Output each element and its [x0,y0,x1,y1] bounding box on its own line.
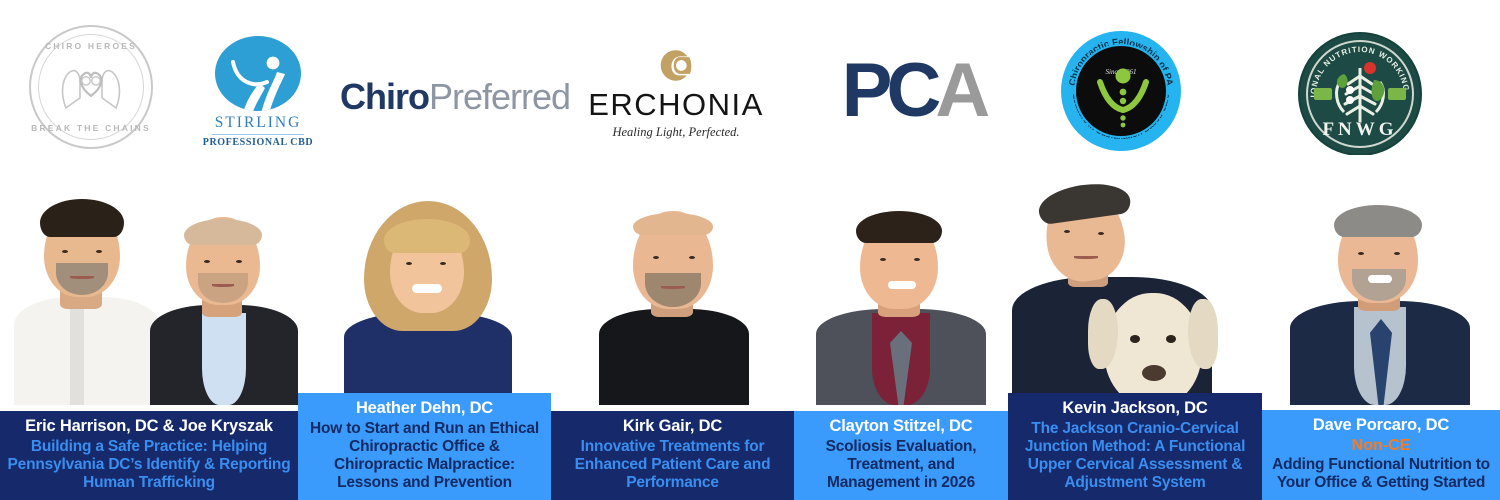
hands-heart-icon [56,58,126,114]
speaker-photo-0 [0,155,298,405]
speaker-name-0: Eric Harrison, DC & Joe Kryszak [6,417,292,436]
fnwg-badge-icon: FUNCTIONAL NUTRITION WORKING GROUP FNWG [1298,32,1422,156]
pca-wordmark: PCA [842,47,984,134]
chiro-heroes-seal-icon: CHIRO HEROES BREAK THE CHAINS [29,25,153,149]
dog-illustration [1088,277,1218,405]
speaker-photo-4 [1008,155,1262,405]
portrait-kevin-jackson [1012,155,1252,405]
sponsor-logo-chiro-heroes[interactable]: CHIRO HEROES BREAK THE CHAINS [26,22,156,152]
speaker-name-4: Kevin Jackson, DC [1014,399,1256,418]
chiro-preferred-word-a: Chiro [340,76,429,117]
pca-word-a: PC [842,48,936,133]
speaker-non-ce-badge-5: Non-CE [1268,437,1494,455]
stirling-circle-icon [215,36,301,111]
speaker-caption-2: Kirk Gair, DC Innovative Treatments for … [551,411,794,500]
speaker-panel-2[interactable]: Kirk Gair, DC Innovative Treatments for … [551,155,794,500]
stirling-divider [212,134,304,135]
chiro-heroes-bottom-text: BREAK THE CHAINS [31,123,151,133]
speaker-caption-3: Clayton Stitzel, DC Scoliosis Evaluation… [794,411,1008,500]
speaker-title-4: The Jackson Cranio-Cervical Junction Met… [1014,420,1256,493]
stirling-subtitle: PROFESSIONAL CBD [203,137,313,148]
speaker-name-5: Dave Porcaro, DC [1268,416,1494,435]
stirling-name: STIRLING [215,114,302,132]
cfpa-badge-icon: Chiropractic Fellowship of PA Leaders in… [1061,31,1181,151]
chiro-heroes-top-text: CHIRO HEROES [31,41,151,51]
speaker-panels: Eric Harrison, DC & Joe Kryszak Building… [0,155,1500,500]
portrait-joe-kryszak [150,155,298,405]
speaker-title-3: Scoliosis Evaluation, Treatment, and Man… [800,438,1002,492]
speaker-photo-1 [298,155,551,405]
chiro-preferred-word-b: Preferred [429,76,570,117]
portrait-heather-dehn [338,155,518,405]
pca-word-b: A [935,48,984,133]
speaker-panel-1[interactable]: Heather Dehn, DC How to Start and Run an… [298,155,551,500]
speaker-panel-5[interactable]: Dave Porcaro, DC Non-CE Adding Functiona… [1262,155,1500,500]
stirling-figure-icon [215,36,301,111]
speaker-panel-0[interactable]: Eric Harrison, DC & Joe Kryszak Building… [0,155,298,500]
speaker-panel-4[interactable]: Kevin Jackson, DC The Jackson Cranio-Cer… [1008,155,1262,500]
speaker-photo-5 [1262,155,1500,405]
speaker-photo-3 [794,155,1008,405]
speaker-caption-0: Eric Harrison, DC & Joe Kryszak Building… [0,411,298,500]
erchonia-tagline: Healing Light, Perfected. [612,125,739,140]
speaker-photo-2 [551,155,794,405]
chiro-preferred-wordmark: ChiroPreferred [340,76,570,118]
portrait-eric-harrison [10,155,160,405]
speaker-caption-4: Kevin Jackson, DC The Jackson Cranio-Cer… [1008,393,1262,500]
speaker-caption-1: Heather Dehn, DC How to Start and Run an… [298,393,551,500]
sponsor-logo-strip: CHIRO HEROES BREAK THE CHAINS [0,0,1500,158]
portrait-clayton-stitzel [816,155,986,405]
speaker-lineup-banner: CHIRO HEROES BREAK THE CHAINS [0,0,1500,500]
sponsor-logo-cfpa[interactable]: Chiropractic Fellowship of PA Leaders in… [1058,28,1184,154]
cfpa-spine-figure-icon [1076,46,1168,138]
speaker-title-1: How to Start and Run an Ethical Chiropra… [304,420,545,493]
cfpa-inner-disc: Since 1961 [1074,44,1168,138]
sponsor-logo-chiro-preferred[interactable]: ChiroPreferred [330,72,570,122]
speaker-name-2: Kirk Gair, DC [557,417,788,436]
speaker-title-2: Innovative Treatments for Enhanced Patie… [557,438,788,492]
speaker-name-1: Heather Dehn, DC [304,399,545,418]
erchonia-wordmark: ERCHONIA [588,87,764,123]
speaker-caption-5: Dave Porcaro, DC Non-CE Adding Functiona… [1262,410,1500,500]
portrait-kirk-gair [599,155,749,405]
speaker-panel-3[interactable]: Clayton Stitzel, DC Scoliosis Evaluation… [794,155,1008,500]
sponsor-logo-fnwg[interactable]: FUNCTIONAL NUTRITION WORKING GROUP FNWG [1298,32,1422,156]
fnwg-letters: FNWG [1300,119,1420,141]
speaker-name-3: Clayton Stitzel, DC [800,417,1002,436]
sponsor-logo-stirling[interactable]: STIRLING PROFESSIONAL CBD [200,36,316,148]
portrait-dave-porcaro [1290,155,1470,405]
speaker-title-5: Adding Functional Nutrition to Your Offi… [1268,456,1494,492]
erchonia-mark-icon [653,48,699,83]
sponsor-logo-erchonia[interactable]: ERCHONIA Healing Light, Perfected. [606,48,746,140]
sponsor-logo-pca[interactable]: PCA [818,55,1008,125]
speaker-title-0: Building a Safe Practice: Helping Pennsy… [6,438,292,492]
